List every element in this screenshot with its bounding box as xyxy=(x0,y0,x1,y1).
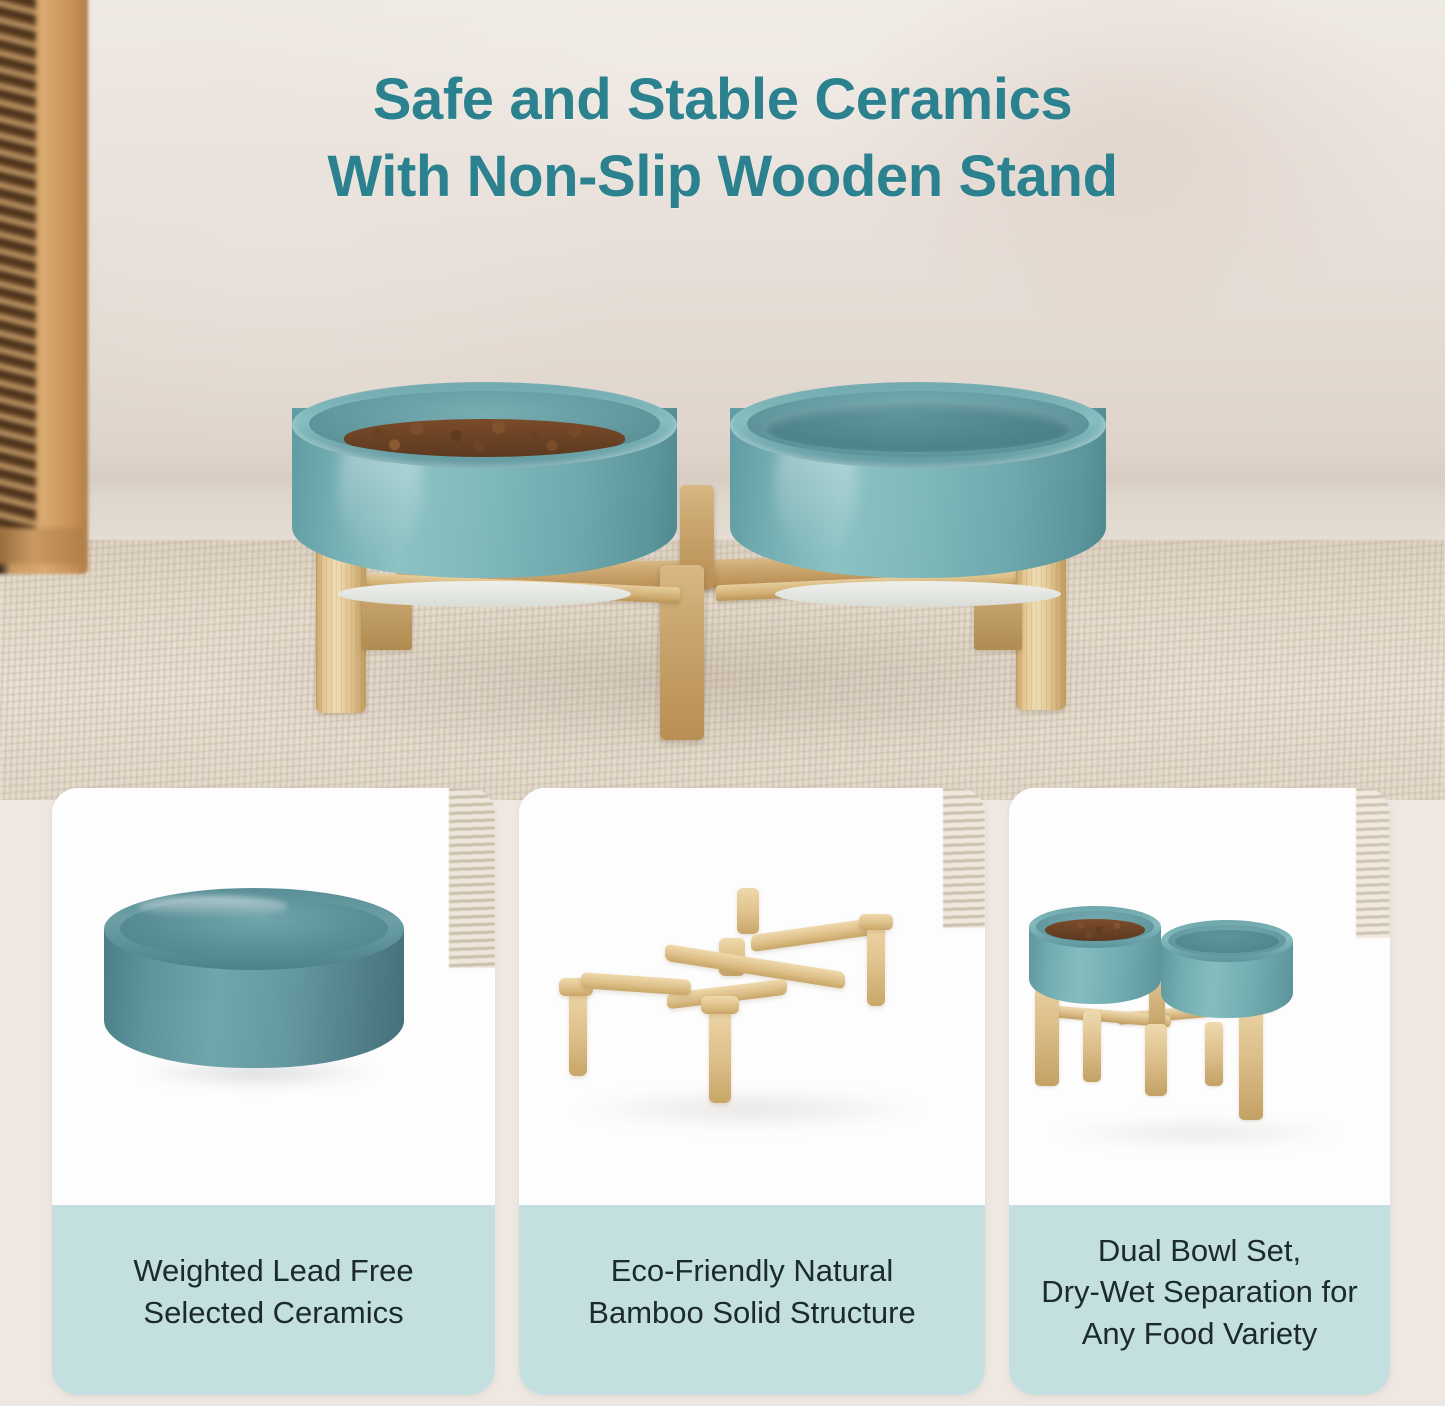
bowl-right-interior xyxy=(747,391,1089,457)
card-3-caption-line-3: Any Food Variety xyxy=(1041,1313,1357,1355)
single-ceramic-bowl xyxy=(104,888,404,1093)
kibble-food xyxy=(344,419,624,457)
card-2-caption: Eco-Friendly Natural Bamboo Solid Struct… xyxy=(519,1205,985,1395)
bowl-left-foot xyxy=(338,581,631,607)
card-1-caption-line-2: Selected Ceramics xyxy=(133,1292,413,1334)
stand-leg-front-center xyxy=(709,1003,731,1103)
card-3-bowl-water xyxy=(1161,920,1293,1024)
feature-card-bamboo[interactable]: Eco-Friendly Natural Bamboo Solid Struct… xyxy=(519,788,985,1395)
page-title: Safe and Stable Ceramics With Non-Slip W… xyxy=(0,62,1445,215)
bowl-right-foot xyxy=(775,581,1061,607)
bowl-left-interior xyxy=(309,391,659,457)
feature-card-ceramics[interactable]: Weighted Lead Free Selected Ceramics xyxy=(52,788,495,1395)
card-3-brace-left xyxy=(1083,1010,1101,1082)
card-1-caption-line-1: Weighted Lead Free xyxy=(133,1250,413,1292)
title-line-2: With Non-Slip Wooden Stand xyxy=(0,139,1445,216)
card-1-caption: Weighted Lead Free Selected Ceramics xyxy=(52,1205,495,1395)
card-2-stand-shadow xyxy=(569,1088,929,1130)
card-3-bowl-food xyxy=(1029,906,1161,1010)
card-3-brace-right xyxy=(1205,1022,1223,1086)
card-3-water xyxy=(1175,930,1279,953)
card-1-bowl-gloss xyxy=(138,896,288,918)
stand-rail-bottom-left xyxy=(581,972,691,996)
stand-post-upper xyxy=(737,888,759,934)
card-3-set-shadow xyxy=(1049,1118,1349,1148)
feature-card-dual-bowl[interactable]: Dual Bowl Set, Dry-Wet Separation for An… xyxy=(1009,788,1390,1395)
card-2-caption-line-2: Bamboo Solid Structure xyxy=(588,1292,915,1334)
hero-bowl-left-food xyxy=(292,382,677,597)
water-surface xyxy=(764,403,1072,452)
stand-leg-rear-right xyxy=(867,918,885,1006)
card-3-bowl-food-rim xyxy=(1029,906,1161,948)
card-3-bowl-food-interior xyxy=(1036,911,1154,942)
stand-foot-front-center xyxy=(701,996,739,1014)
card-3-caption: Dual Bowl Set, Dry-Wet Separation for An… xyxy=(1009,1205,1390,1395)
stand-leg-rear-left xyxy=(569,984,587,1076)
card-2-caption-line-1: Eco-Friendly Natural xyxy=(588,1250,915,1292)
title-line-1: Safe and Stable Ceramics xyxy=(0,62,1445,139)
feature-card-row: Weighted Lead Free Selected Ceramics xyxy=(0,788,1445,1406)
card-1-photo xyxy=(52,788,495,1205)
hero-bowl-right-water xyxy=(730,382,1106,597)
bowl-left-rim xyxy=(292,382,677,468)
card-1-rug-edge xyxy=(449,788,495,968)
stand-foot-rear-right xyxy=(859,914,893,930)
card-3-caption-line-1: Dual Bowl Set, xyxy=(1041,1230,1357,1272)
card-2-photo xyxy=(519,788,985,1205)
dual-bowl-set xyxy=(1009,788,1390,1205)
bamboo-stand-frame xyxy=(519,788,985,1205)
card-3-center-leg xyxy=(1145,1024,1167,1096)
card-1-bowl-rim xyxy=(104,888,404,970)
bowl-right-rim xyxy=(730,382,1106,468)
card-3-bowl-water-rim xyxy=(1161,920,1293,962)
card-3-photo xyxy=(1009,788,1390,1205)
card-3-kibble xyxy=(1045,919,1144,941)
card-3-caption-line-2: Dry-Wet Separation for xyxy=(1041,1271,1357,1313)
card-3-bowl-water-interior xyxy=(1168,925,1286,956)
